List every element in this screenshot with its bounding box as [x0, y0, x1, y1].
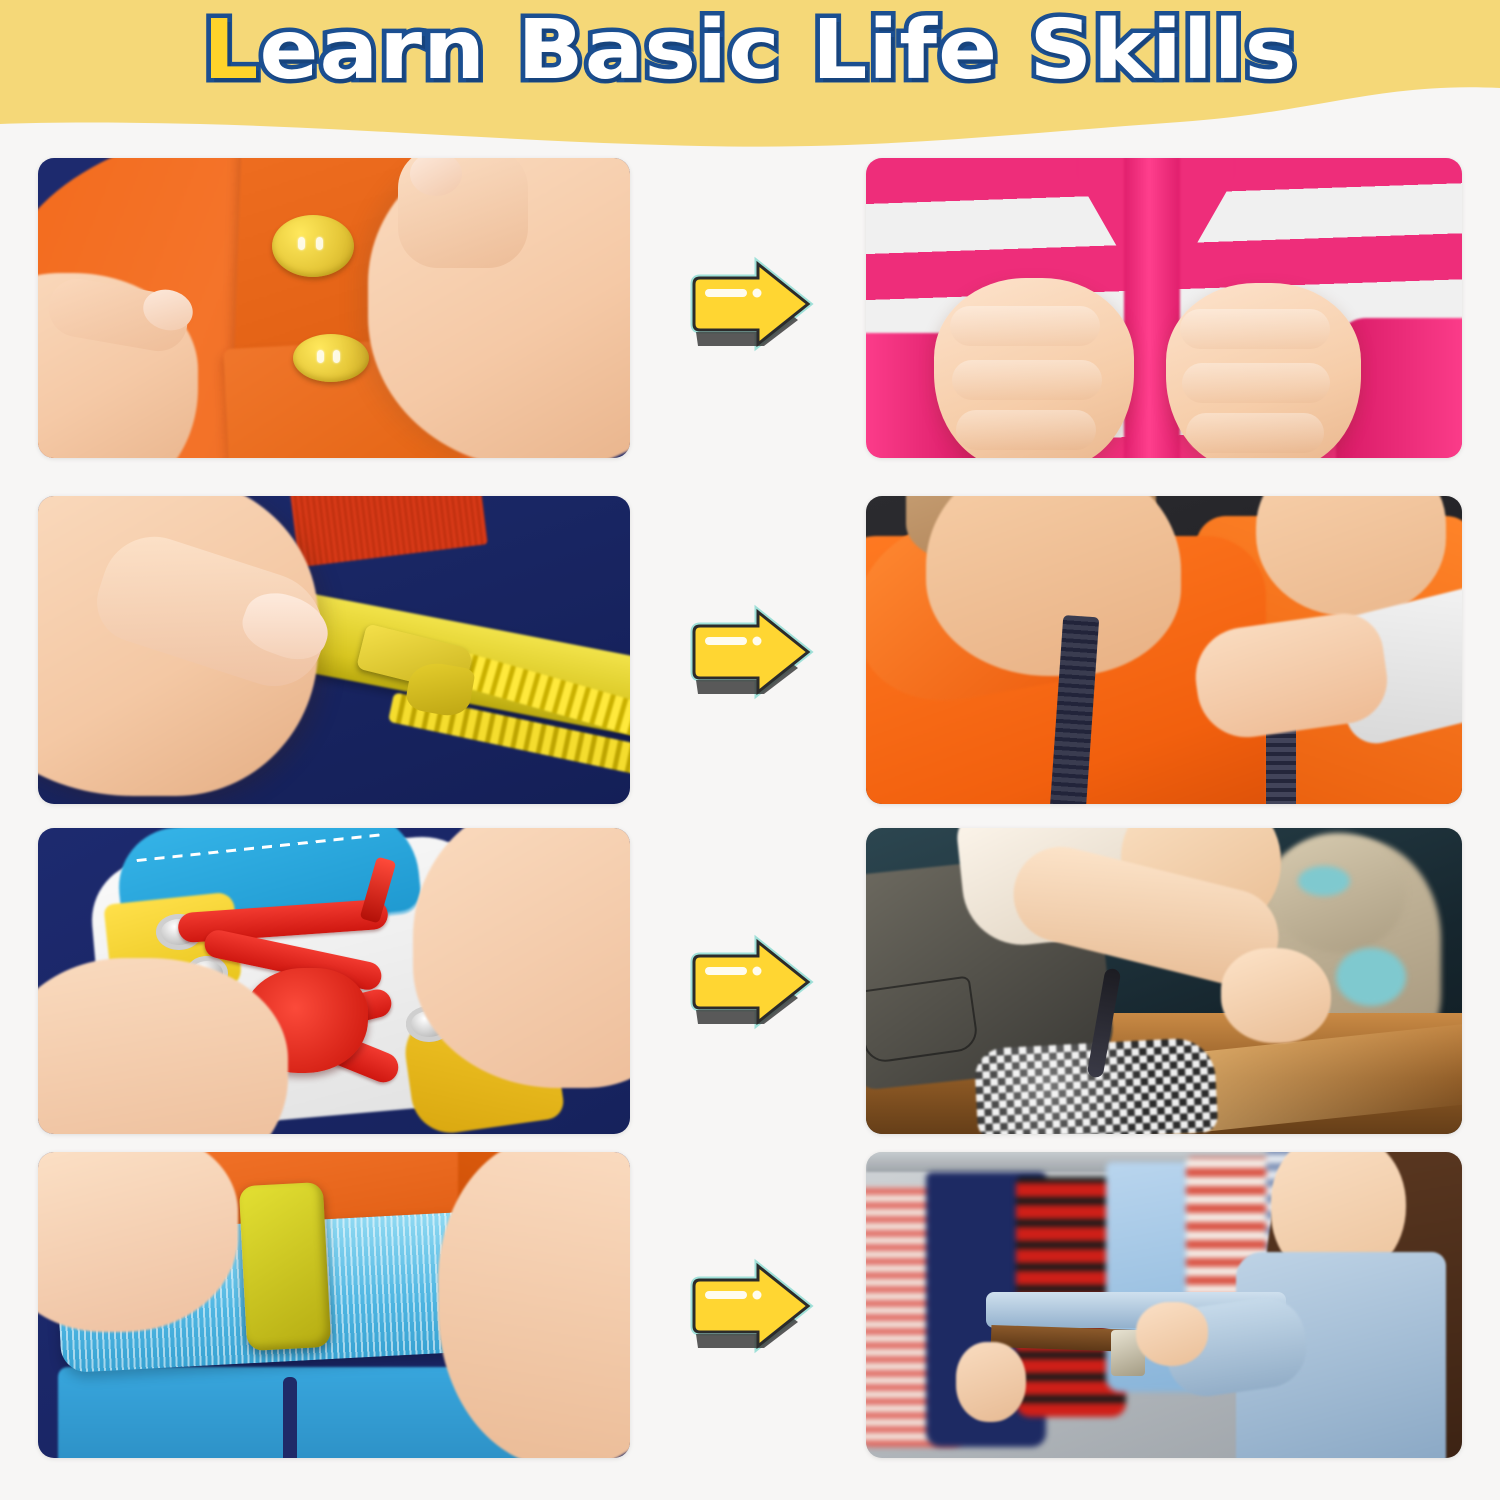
photo-girl-with-jeans — [866, 1152, 1462, 1458]
panel-button-real-life[interactable] — [866, 158, 1462, 458]
panel-belt-practice[interactable] — [38, 1152, 630, 1458]
photo-lifejacket-zipping — [866, 496, 1462, 804]
banner-wave-shape — [0, 0, 1500, 160]
arrow-right-icon-row-button — [672, 256, 822, 352]
photo-felt-shoelaces — [38, 828, 630, 1134]
panel-zipper-practice[interactable] — [38, 496, 630, 804]
panel-zipper-real-life[interactable] — [866, 496, 1462, 804]
header-banner — [0, 0, 1500, 160]
photo-felt-buttoning — [38, 158, 630, 458]
arrow-right-icon-row-belt — [672, 1258, 822, 1354]
photo-felt-belt-buckle — [38, 1152, 630, 1458]
panel-belt-real-life[interactable] — [866, 1152, 1462, 1458]
arrow-right-icon-row-laces — [672, 934, 822, 1030]
skills-grid — [0, 0, 1500, 1500]
panel-button-practice[interactable] — [38, 158, 630, 458]
panel-laces-practice[interactable] — [38, 828, 630, 1134]
photo-child-tying-shoes — [866, 828, 1462, 1134]
photo-felt-zipper — [38, 496, 630, 804]
arrow-right-icon-row-zipper — [672, 604, 822, 700]
panel-laces-real-life[interactable] — [866, 828, 1462, 1134]
photo-cardigan-buttoning — [866, 158, 1462, 458]
